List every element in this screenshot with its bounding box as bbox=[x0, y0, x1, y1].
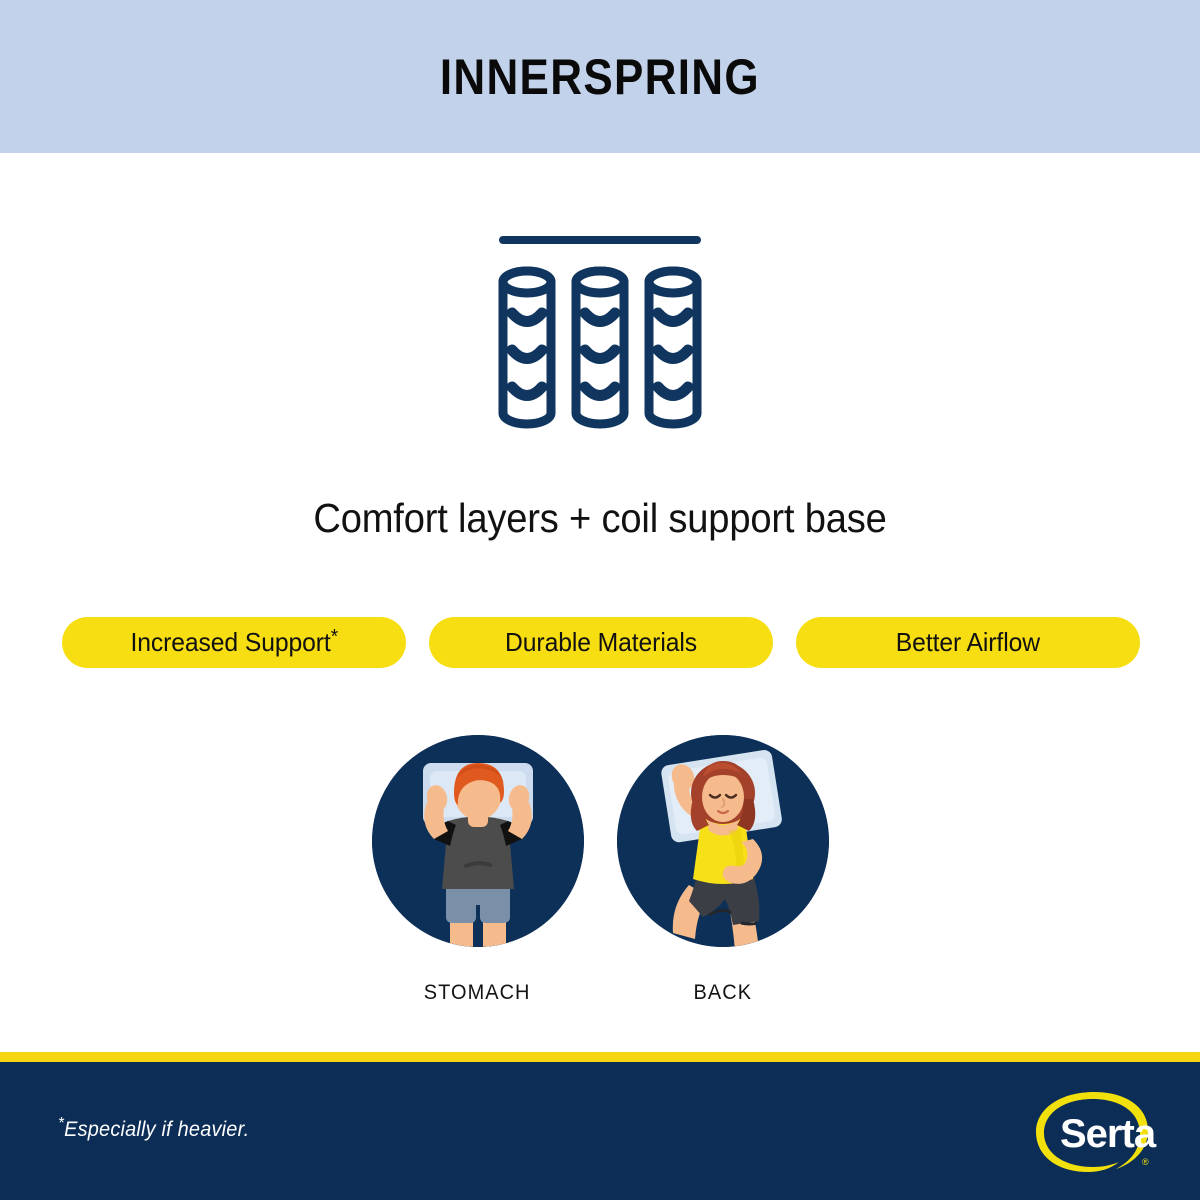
subtitle-text: Comfort layers + coil support base bbox=[42, 495, 1158, 542]
sleep-position-label: STOMACH bbox=[424, 981, 531, 1005]
coil-3 bbox=[649, 271, 697, 424]
feature-pill-better-airflow[interactable]: Better Airflow bbox=[796, 617, 1140, 668]
page-title: INNERSPRING bbox=[440, 48, 760, 106]
feature-pill-label: Increased Support bbox=[130, 627, 330, 657]
sleep-position-stomach[interactable]: STOMACH bbox=[372, 735, 584, 1005]
feature-pill-label: Durable Materials bbox=[505, 627, 697, 657]
sleep-position-back[interactable]: BACK bbox=[617, 735, 829, 1005]
coil-2 bbox=[576, 271, 624, 424]
serta-wordmark: Serta bbox=[1060, 1112, 1157, 1156]
coil-stack-icon bbox=[490, 225, 710, 445]
footer-accent-stripe bbox=[0, 1052, 1200, 1062]
stomach-sleeper-illustration bbox=[372, 735, 584, 947]
infographic-page: INNERSPRING bbox=[0, 0, 1200, 1200]
footnote-marker: * bbox=[330, 626, 337, 648]
footnote-label: Especially if heavier. bbox=[64, 1118, 249, 1141]
serta-logo[interactable]: Serta ® bbox=[1030, 1085, 1158, 1179]
feature-pill-durable-materials[interactable]: Durable Materials bbox=[429, 617, 773, 668]
header-banner: INNERSPRING bbox=[0, 0, 1200, 153]
feature-pill-increased-support[interactable]: Increased Support* bbox=[62, 617, 406, 668]
feature-pill-row: Increased Support* Durable Materials Bet… bbox=[62, 617, 1140, 668]
coil-top-bar bbox=[499, 236, 701, 244]
back-sleeper-illustration bbox=[617, 735, 829, 947]
sleep-position-label: BACK bbox=[693, 981, 752, 1005]
coil-icon-container bbox=[0, 225, 1200, 445]
stomach-sleeper-circle bbox=[372, 735, 584, 947]
registered-mark: ® bbox=[1142, 1157, 1149, 1167]
sleep-position-row: STOMACH bbox=[0, 735, 1200, 1005]
coil-1 bbox=[503, 271, 551, 424]
footnote-text: *Especially if heavier. bbox=[58, 1118, 249, 1142]
back-sleeper-circle bbox=[617, 735, 829, 947]
feature-pill-label: Better Airflow bbox=[896, 627, 1040, 657]
